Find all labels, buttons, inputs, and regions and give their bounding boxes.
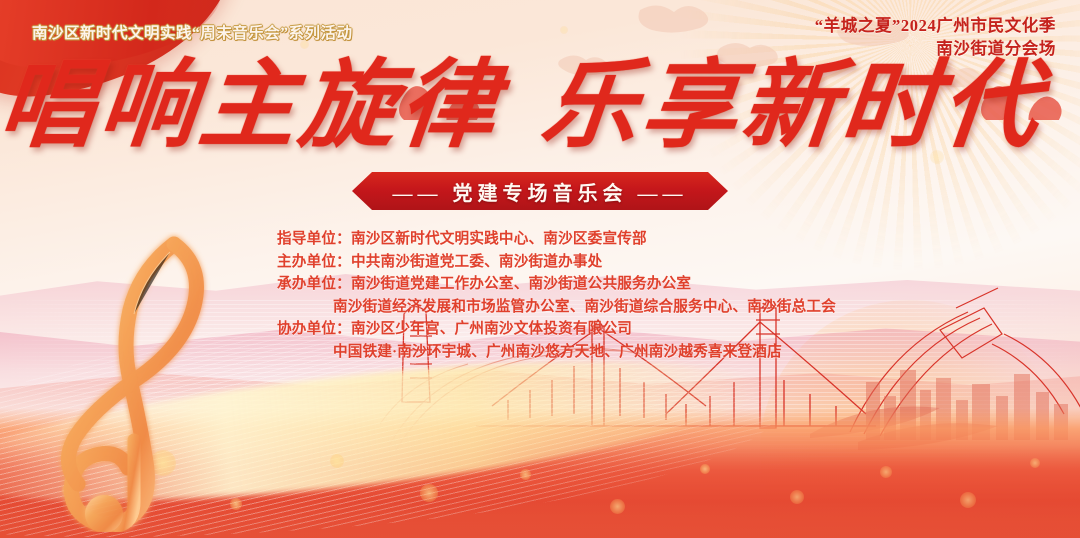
bottom-color-band xyxy=(0,408,1080,538)
bokeh-particle xyxy=(790,490,804,504)
treble-clef-icon xyxy=(42,232,257,532)
credits-row: 主办单位：中共南沙街道党工委、南沙街道办事处 xyxy=(277,251,836,274)
credits-row: 中国铁建·南沙环宇城、广州南沙悠方天地、广州南沙越秀喜来登酒店 xyxy=(277,341,836,364)
credits-row: 南沙街道经济发展和市场监管办公室、南沙街道综合服务中心、南沙街总工会 xyxy=(277,296,836,319)
credits-block: 指导单位：南沙区新时代文明实践中心、南沙区委宣传部主办单位：中共南沙街道党工委、… xyxy=(277,228,836,364)
bokeh-particle xyxy=(960,492,976,508)
bottom-color-band-2 xyxy=(0,446,1080,538)
bokeh-particle xyxy=(62,482,78,498)
credits-row: 承办单位：南沙街道党建工作办公室、南沙街道公共服务办公室 xyxy=(277,273,836,296)
poster-canvas: 南沙区新时代文明实践“周末音乐会”系列活动 “羊城之夏”2024广州市民文化季 … xyxy=(0,0,1080,538)
bokeh-particle xyxy=(150,450,176,476)
bokeh-particle xyxy=(230,498,242,510)
bokeh-particle xyxy=(880,466,892,478)
bokeh-particle xyxy=(520,469,531,480)
header-right-line-1: “羊城之夏”2024广州市民文化季 xyxy=(815,14,1056,37)
header-left-title: 南沙区新时代文明实践“周末音乐会”系列活动 xyxy=(32,21,353,43)
credits-row: 指导单位：南沙区新时代文明实践中心、南沙区委宣传部 xyxy=(277,228,836,251)
credits-row: 协办单位：南沙区少年宫、广州南沙文体投资有限公司 xyxy=(277,318,836,341)
bokeh-particle xyxy=(560,26,568,34)
main-title: 唱响主旋律乐享新时代 xyxy=(0,56,1005,157)
bokeh-particle xyxy=(610,499,625,514)
bokeh-particle xyxy=(420,484,438,502)
bokeh-particle xyxy=(700,464,710,474)
subtitle-ribbon-label: —— 党建专场音乐会 —— xyxy=(393,177,688,206)
subtitle-ribbon: —— 党建专场音乐会 —— xyxy=(352,172,728,210)
main-title-part-1: 唱响主旋律 xyxy=(0,52,506,159)
main-title-part-2: 乐享新时代 xyxy=(536,52,1047,159)
bokeh-particle xyxy=(330,454,344,468)
bokeh-particle xyxy=(1030,458,1040,468)
